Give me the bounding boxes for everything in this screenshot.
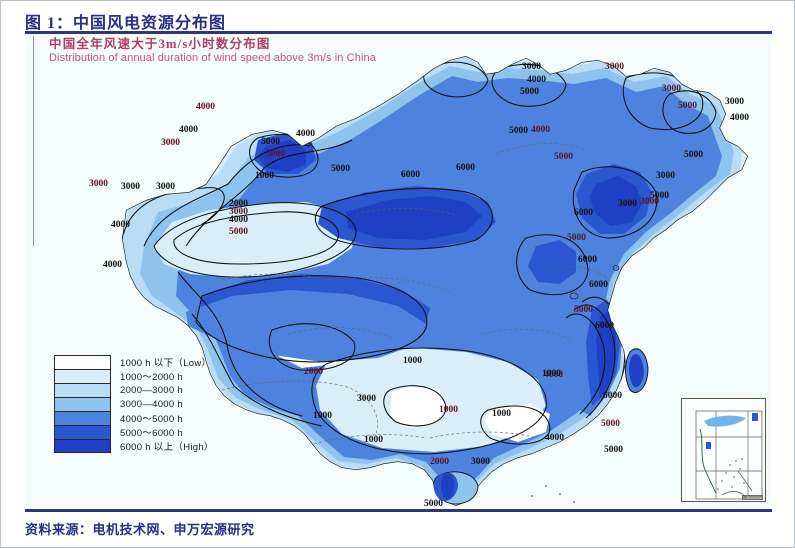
legend-label: 1000～2000 h xyxy=(120,369,183,383)
source-note: 资料来源：电机技术网、申万宏源研究 xyxy=(25,519,255,538)
legend-swatch xyxy=(54,411,111,425)
legend-label: 3000—4000 h xyxy=(120,399,183,410)
legend-item: 2000—3000 h xyxy=(54,383,214,397)
legend-swatch xyxy=(54,425,111,439)
map-caption-cn: 中国全年风速大于3m/s小时数分布图 xyxy=(49,37,376,52)
legend-swatch xyxy=(54,355,111,369)
legend-item: 6000 h 以上（High） xyxy=(54,439,214,453)
legend-label: 4000～5000 h xyxy=(120,411,183,425)
legend-label: 5000～6000 h xyxy=(120,425,183,439)
inset-scale-label: 1:35000000 xyxy=(742,495,763,500)
legend-swatch xyxy=(54,397,111,411)
legend-label: 2000—3000 h xyxy=(120,385,183,396)
legend-item: 4000～5000 h xyxy=(54,411,214,425)
map-caption: 中国全年风速大于3m/s小时数分布图 Distribution of annua… xyxy=(49,37,376,66)
legend-swatch xyxy=(54,439,111,453)
legend-swatch xyxy=(54,383,111,397)
legend-item: 1000 h 以下（Low） xyxy=(54,355,214,369)
legend-item: 3000—4000 h xyxy=(54,397,214,411)
legend-item: 1000～2000 h xyxy=(54,369,214,383)
figure-page: 图 1：中国风电资源分布图 xyxy=(0,0,795,548)
footer-divider xyxy=(25,509,772,512)
inset-map-south-china-sea: 1:35000000 xyxy=(681,398,766,502)
map-caption-en: Distribution of annual duration of wind … xyxy=(49,52,376,65)
legend-item: 5000～6000 h xyxy=(54,425,214,439)
legend-label: 1000 h 以下（Low） xyxy=(120,355,211,369)
wind-resource-map: 中国全年风速大于3m/s小时数分布图 Distribution of annua… xyxy=(26,34,771,507)
legend-swatch xyxy=(54,369,111,383)
legend: 1000 h 以下（Low）1000～2000 h2000—3000 h3000… xyxy=(54,355,214,453)
legend-label: 6000 h 以上（High） xyxy=(120,439,214,453)
page-title: 图 1：中国风电资源分布图 xyxy=(25,9,226,33)
